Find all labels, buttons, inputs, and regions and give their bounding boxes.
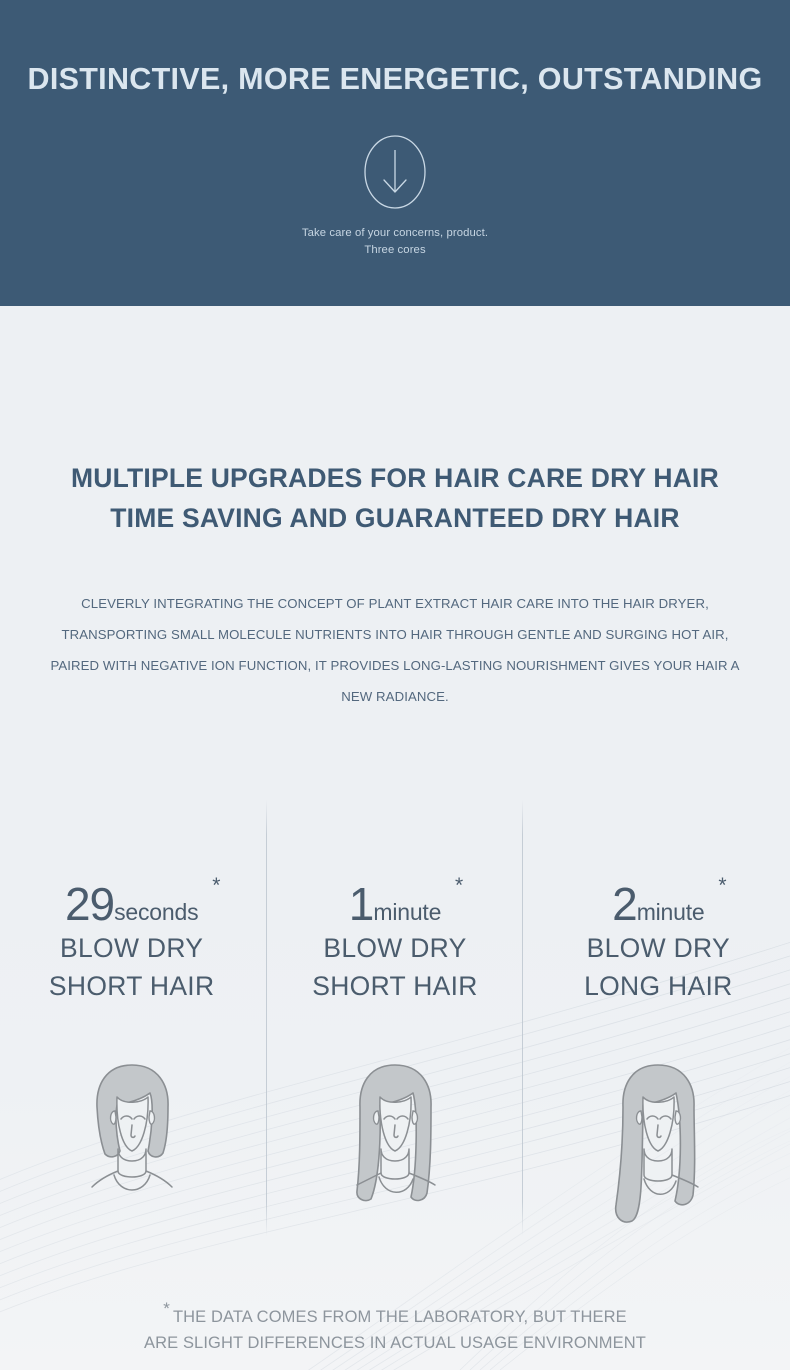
footnote-disclaimer: *THE DATA COMES FROM THE LABORATORY, BUT…: [0, 1296, 790, 1356]
stat-label-1a: BLOW DRY: [0, 929, 263, 967]
stat-value-2: 1minute *: [349, 881, 441, 929]
stat-column-3: 2minute * BLOW DRY LONG HAIR: [527, 881, 790, 1021]
stat-number-2: 1: [349, 878, 374, 930]
stat-value-1: 29seconds *: [65, 881, 198, 929]
body-line-1: CLEVERLY INTEGRATING THE CONCEPT OF PLAN…: [0, 588, 790, 619]
stat-column-1: 29seconds * BLOW DRY SHORT HAIR: [0, 881, 263, 1021]
stat-label-3b: LONG HAIR: [527, 967, 790, 1005]
stat-value-3: 2minute *: [612, 881, 704, 929]
stats-row: 29seconds * BLOW DRY SHORT HAIR 1minute …: [0, 881, 790, 1021]
body-line-4: NEW RADIANCE.: [0, 681, 790, 712]
stat-column-2: 1minute * BLOW DRY SHORT HAIR: [263, 881, 526, 1021]
woman-long-hair-icon: [598, 1051, 718, 1231]
hero-subtitle: Take care of your concerns, product. Thr…: [0, 225, 790, 259]
woman-short-hair-icon: [72, 1051, 192, 1231]
body-line-2: TRANSPORTING SMALL MOLECULE NUTRIENTS IN…: [0, 619, 790, 650]
headline-line-1: MULTIPLE UPGRADES FOR HAIR CARE DRY HAIR: [0, 458, 790, 498]
footnote-line-1: *THE DATA COMES FROM THE LABORATORY, BUT…: [0, 1296, 790, 1330]
body-line-3: PAIRED WITH NEGATIVE ION FUNCTION, IT PR…: [0, 650, 790, 681]
footnote-line-2: ARE SLIGHT DIFFERENCES IN ACTUAL USAGE E…: [0, 1330, 790, 1356]
illustration-column-2: [263, 1051, 526, 1251]
hero-subtitle-line-2: Three cores: [0, 242, 790, 259]
hero-banner: DISTINCTIVE, MORE ENERGETIC, OUTSTANDING…: [0, 0, 790, 306]
stat-number-1: 29: [65, 878, 114, 930]
stat-label-3a: BLOW DRY: [527, 929, 790, 967]
stat-unit-1: seconds: [114, 899, 198, 925]
illustrations-row: [0, 1051, 790, 1251]
illustration-column-1: [0, 1051, 263, 1251]
stat-label-2b: SHORT HAIR: [263, 967, 526, 1005]
content-section: MULTIPLE UPGRADES FOR HAIR CARE DRY HAIR…: [0, 306, 790, 1370]
headline-line-2: TIME SAVING AND GUARANTEED DRY HAIR: [0, 498, 790, 538]
asterisk-marker-2: *: [455, 875, 463, 896]
page-title: DISTINCTIVE, MORE ENERGETIC, OUTSTANDING: [0, 62, 790, 97]
stat-unit-2: minute: [373, 899, 441, 925]
product-detail-page: DISTINCTIVE, MORE ENERGETIC, OUTSTANDING…: [0, 0, 790, 1370]
section-headline: MULTIPLE UPGRADES FOR HAIR CARE DRY HAIR…: [0, 458, 790, 538]
stat-label-2a: BLOW DRY: [263, 929, 526, 967]
down-arrow-in-circle-icon: [357, 133, 433, 211]
footnote-asterisk: *: [163, 1299, 170, 1318]
illustration-column-3: [527, 1051, 790, 1251]
woman-medium-hair-icon: [335, 1051, 455, 1231]
stat-number-3: 2: [612, 878, 637, 930]
hero-subtitle-line-1: Take care of your concerns, product.: [0, 225, 790, 242]
asterisk-marker-1: *: [212, 875, 220, 896]
stat-label-1b: SHORT HAIR: [0, 967, 263, 1005]
footnote-text-1: THE DATA COMES FROM THE LABORATORY, BUT …: [173, 1308, 627, 1326]
stat-unit-3: minute: [637, 899, 705, 925]
asterisk-marker-3: *: [718, 875, 726, 896]
section-body-copy: CLEVERLY INTEGRATING THE CONCEPT OF PLAN…: [0, 588, 790, 712]
